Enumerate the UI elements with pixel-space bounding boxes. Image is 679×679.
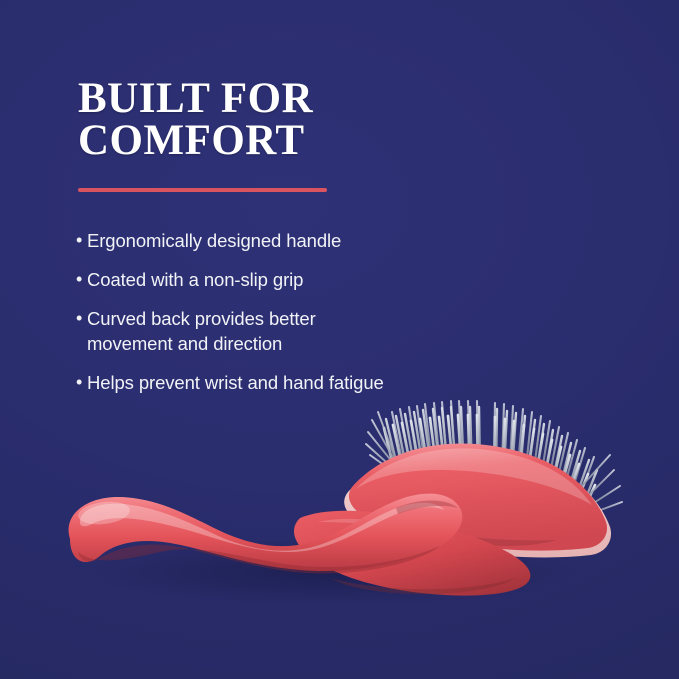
list-item: • Ergonomically designed handle — [76, 228, 476, 253]
list-item-label: Curved back provides better movement and… — [87, 306, 349, 356]
page-title: BUILT FOR COMFORT — [78, 78, 498, 162]
bullet-marker-icon: • — [76, 228, 87, 253]
bullet-marker-icon: • — [76, 370, 87, 395]
list-item-label: Ergonomically designed handle — [87, 228, 476, 253]
bullet-marker-icon: • — [76, 306, 87, 331]
page-title-line-2: COMFORT — [78, 120, 498, 162]
feature-list: • Ergonomically designed handle • Coated… — [76, 228, 476, 409]
list-item: • Curved back provides better movement a… — [76, 306, 476, 356]
list-item: • Helps prevent wrist and hand fatigue — [76, 370, 476, 395]
bullet-marker-icon: • — [76, 267, 87, 292]
list-item-label: Helps prevent wrist and hand fatigue — [87, 370, 476, 395]
list-item: • Coated with a non-slip grip — [76, 267, 476, 292]
page-title-line-1: BUILT FOR — [78, 78, 498, 120]
list-item-label: Coated with a non-slip grip — [87, 267, 476, 292]
promo-image-canvas: BUILT FOR COMFORT • Ergonomically design… — [0, 0, 679, 679]
title-divider — [78, 188, 327, 192]
